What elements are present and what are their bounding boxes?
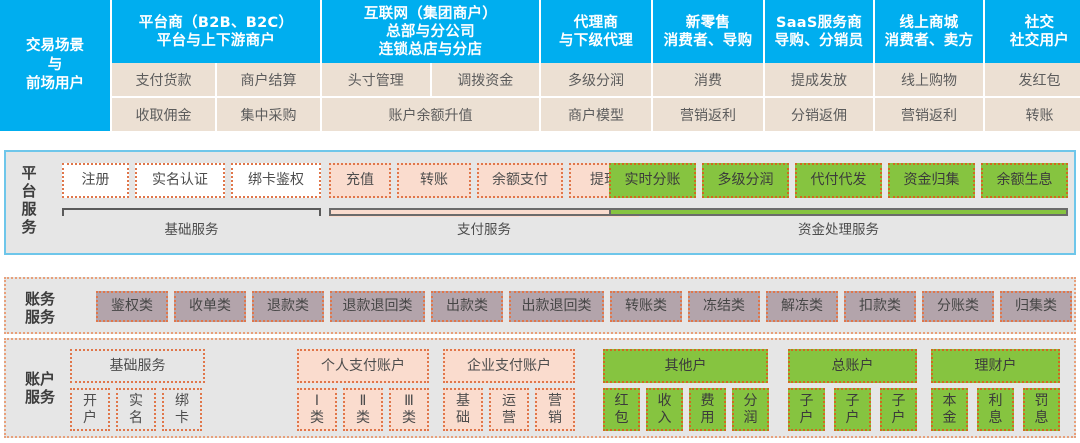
account-group-general-title[interactable]: 总账户 (788, 349, 917, 383)
scenario-col-social: 社交 社交用户 (984, 0, 1080, 63)
platform-group-basic-title: 基础服务 (62, 218, 321, 238)
col4-line1: SaaS服务商 (765, 14, 873, 32)
account-chip-redpacket[interactable]: 红包 (603, 388, 640, 431)
need-cell: 头寸管理 (321, 63, 431, 97)
col1-line3: 连锁总店与分店 (322, 41, 539, 59)
account-chip-expense[interactable]: 费用 (689, 388, 726, 431)
account-services-panel: 账户 服务 基础服务 开户 实名 绑卡 个人支付账户 Ⅰ类 Ⅱ类 Ⅲ类 企业支付… (4, 338, 1076, 438)
need-cell: 提成发放 (764, 63, 874, 97)
col5-line1: 线上商城 (875, 14, 983, 32)
need-cell: 转账 (984, 97, 1080, 131)
account-group-basic-title[interactable]: 基础服务 (70, 349, 205, 383)
account-chip-bindcard[interactable]: 绑卡 (162, 388, 202, 431)
need-cell: 线上购物 (874, 63, 984, 97)
platform-label-char-1: 平 (16, 164, 42, 182)
platform-chip-multilevel-profit[interactable]: 多级分润 (702, 163, 789, 198)
col6-line1: 社交 (985, 14, 1080, 32)
need-cell: 营销返利 (874, 97, 984, 131)
account-chip-enterprise-basic[interactable]: 基础 (443, 388, 483, 431)
scenario-col-newretail: 新零售 消费者、导购 (652, 0, 764, 63)
scenario-side-label-line-3: 前场用户 (0, 75, 110, 94)
platform-chip-register[interactable]: 注册 (62, 163, 129, 198)
account-chip-personal-type2[interactable]: Ⅱ类 (343, 388, 383, 431)
need-cell: 集中采购 (216, 97, 321, 131)
accounting-label-line-2: 服务 (14, 308, 66, 326)
platform-label-char-3: 服 (16, 200, 42, 218)
scenario-side-label-line-1: 交易场景 (0, 37, 110, 56)
platform-chip-payout-agent[interactable]: 代付代发 (795, 163, 882, 198)
account-chip-open-account[interactable]: 开户 (70, 388, 110, 431)
col0-line2: 平台与上下游商户 (112, 32, 320, 50)
col4-line2: 导购、分销员 (765, 32, 873, 50)
need-cell: 调拨资金 (431, 63, 541, 97)
scenario-side-label-line-2: 与 (0, 56, 110, 75)
accounting-chip-payout-return[interactable]: 出款退回类 (509, 291, 604, 322)
accounting-chip-auth[interactable]: 鉴权类 (96, 291, 168, 322)
accounting-chip-unfreeze[interactable]: 解冻类 (766, 291, 838, 322)
platform-services-panel: 平 台 服 务 注册 实名认证 绑卡鉴权 基础服务 充值 转账 余额支付 提现 … (4, 150, 1076, 255)
platform-chip-realtime-split[interactable]: 实时分账 (609, 163, 696, 198)
account-group-personal-title[interactable]: 个人支付账户 (297, 349, 429, 383)
scenario-table: 交易场景 与 前场用户 平台商（B2B、B2C） 平台与上下游商户 互联网（集团… (0, 0, 1080, 131)
col3-line2: 消费者、导购 (653, 32, 763, 50)
need-cell: 营销返利 (652, 97, 764, 131)
account-chip-enterprise-ops[interactable]: 运营 (489, 388, 529, 431)
platform-group-payment-title: 支付服务 (329, 218, 639, 238)
platform-chip-cardbind[interactable]: 绑卡鉴权 (231, 163, 321, 198)
scenario-col-agent: 代理商 与下级代理 (540, 0, 652, 63)
account-chip-income[interactable]: 收入 (646, 388, 683, 431)
scenario-header-row: 交易场景 与 前场用户 平台商（B2B、B2C） 平台与上下游商户 互联网（集团… (0, 0, 1080, 63)
col1-line2: 总部与分公司 (322, 23, 539, 41)
account-chip-realname[interactable]: 实名 (116, 388, 156, 431)
need-cell: 商户模型 (540, 97, 652, 131)
need-cell: 支付货款 (111, 63, 216, 97)
need-cell: 消费 (652, 63, 764, 97)
accounting-services-panel: 账务 服务 鉴权类 收单类 退款类 退款退回类 出款类 出款退回类 转账类 冻结… (4, 277, 1076, 334)
account-services-label: 账户 服务 (14, 370, 66, 406)
col0-line1: 平台商（B2B、B2C） (112, 14, 320, 32)
accounting-chip-transfer[interactable]: 转账类 (610, 291, 682, 322)
scenario-side-label: 交易场景 与 前场用户 (0, 0, 111, 131)
need-cell: 账户余额升值 (321, 97, 540, 131)
platform-chip-fund-pooling[interactable]: 资金归集 (888, 163, 975, 198)
accounting-label-line-1: 账务 (14, 290, 66, 308)
accounting-chip-freeze[interactable]: 冻结类 (688, 291, 760, 322)
account-chip-personal-type3[interactable]: Ⅲ类 (389, 388, 429, 431)
need-cell: 商户结算 (216, 63, 321, 97)
account-group-other-title[interactable]: 其他户 (603, 349, 768, 383)
platform-chip-transfer[interactable]: 转账 (397, 163, 471, 198)
needs-row-1: 支付货款 商户结算 头寸管理 调拨资金 多级分润 消费 提成发放 线上购物 发红… (0, 63, 1080, 97)
accounting-chip-split[interactable]: 分账类 (922, 291, 994, 322)
need-cell: 分销返佣 (764, 97, 874, 131)
accounting-chip-deduct[interactable]: 扣款类 (844, 291, 916, 322)
platform-group-fund-title: 资金处理服务 (609, 218, 1068, 238)
col2-line1: 代理商 (541, 14, 651, 32)
scenario-col-saas: SaaS服务商 导购、分销员 (764, 0, 874, 63)
needs-row-2: 收取佣金 集中采购 账户余额升值 商户模型 营销返利 分销返佣 营销返利 转账 (0, 97, 1080, 131)
infographic-root: 交易场景 与 前场用户 平台商（B2B、B2C） 平台与上下游商户 互联网（集团… (0, 0, 1080, 443)
account-label-line-2: 服务 (14, 388, 66, 406)
platform-chip-realname[interactable]: 实名认证 (135, 163, 225, 198)
col6-line2: 社交用户 (985, 32, 1080, 50)
account-group-wealth-title[interactable]: 理财户 (931, 349, 1060, 383)
account-label-line-1: 账户 (14, 370, 66, 388)
col5-line2: 消费者、卖方 (875, 32, 983, 50)
col3-line1: 新零售 (653, 14, 763, 32)
need-cell: 收取佣金 (111, 97, 216, 131)
account-chip-sub-2[interactable]: 子户 (834, 388, 871, 431)
platform-chip-topup[interactable]: 充值 (329, 163, 391, 198)
account-chip-penalty[interactable]: 罚息 (1023, 388, 1060, 431)
platform-services-label: 平 台 服 务 (16, 164, 42, 236)
account-chip-personal-type1[interactable]: Ⅰ类 (297, 388, 337, 431)
accounting-chip-refund-return[interactable]: 退款退回类 (330, 291, 425, 322)
account-chip-enterprise-marketing[interactable]: 营销 (535, 388, 575, 431)
need-cell: 多级分润 (540, 63, 652, 97)
account-group-enterprise-title[interactable]: 企业支付账户 (443, 349, 575, 383)
platform-chip-balance-pay[interactable]: 余额支付 (477, 163, 563, 198)
accounting-services-label: 账务 服务 (14, 290, 66, 326)
account-chip-profit[interactable]: 分润 (732, 388, 769, 431)
account-chip-interest[interactable]: 利息 (977, 388, 1014, 431)
platform-bracket-fund (609, 208, 1068, 217)
platform-label-char-4: 务 (16, 218, 42, 236)
accounting-chip-refund[interactable]: 退款类 (252, 291, 324, 322)
account-chip-sub-1[interactable]: 子户 (788, 388, 825, 431)
scenario-col-platform-merchant: 平台商（B2B、B2C） 平台与上下游商户 (111, 0, 321, 63)
platform-label-char-2: 台 (16, 182, 42, 200)
scenario-col-internet-group: 互联网（集团商户） 总部与分公司 连锁总店与分店 (321, 0, 540, 63)
accounting-chip-pooling[interactable]: 归集类 (1000, 291, 1072, 322)
platform-bracket-basic (62, 208, 321, 217)
accounting-chip-payout[interactable]: 出款类 (431, 291, 503, 322)
platform-chip-balance-interest[interactable]: 余额生息 (981, 163, 1068, 198)
account-chip-sub-3[interactable]: 子户 (880, 388, 917, 431)
platform-bracket-payment (329, 208, 639, 217)
col2-line2: 与下级代理 (541, 32, 651, 50)
scenario-col-online-mall: 线上商城 消费者、卖方 (874, 0, 984, 63)
accounting-chip-acquiring[interactable]: 收单类 (174, 291, 246, 322)
account-chip-principal[interactable]: 本金 (931, 388, 968, 431)
need-cell: 发红包 (984, 63, 1080, 97)
col1-line1: 互联网（集团商户） (322, 5, 539, 23)
